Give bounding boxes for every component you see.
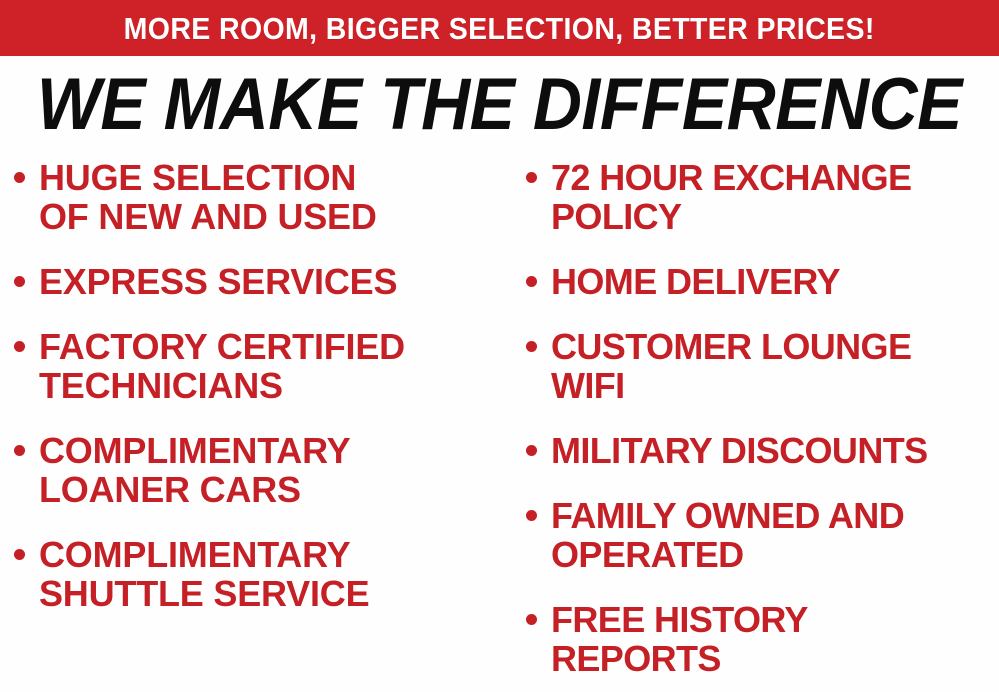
bullet-dot-icon	[14, 341, 25, 352]
list-item-label: COMPLIMENTARY LOANER CARS	[39, 431, 350, 509]
bullet-dot-icon	[526, 172, 537, 183]
promo-strip: MORE ROOM, BIGGER SELECTION, BETTER PRIC…	[0, 0, 999, 56]
headline-container: WE MAKE THE DIFFERENCE	[0, 62, 999, 146]
dealership-promo-banner: MORE ROOM, BIGGER SELECTION, BETTER PRIC…	[0, 0, 999, 692]
list-item: 72 HOUR EXCHANGE POLICY	[526, 158, 997, 236]
bullet-dot-icon	[526, 510, 537, 521]
page-title: WE MAKE THE DIFFERENCE	[37, 68, 962, 141]
list-item: FAMILY OWNED AND OPERATED	[526, 496, 997, 574]
list-item: EXPRESS SERVICES	[14, 262, 502, 301]
list-item-label: HOME DELIVERY	[551, 262, 840, 301]
list-item: COMPLIMENTARY LOANER CARS	[14, 431, 502, 509]
list-item-label: CUSTOMER LOUNGE WIFI	[551, 327, 911, 405]
bullet-dot-icon	[14, 172, 25, 183]
features-columns: HUGE SELECTION OF NEW AND USED EXPRESS S…	[0, 158, 999, 692]
list-item: HOME DELIVERY	[526, 262, 997, 301]
list-item: MILITARY DISCOUNTS	[526, 431, 997, 470]
list-item: HUGE SELECTION OF NEW AND USED	[14, 158, 502, 236]
bullet-dot-icon	[526, 445, 537, 456]
promo-strip-text: MORE ROOM, BIGGER SELECTION, BETTER PRIC…	[124, 13, 875, 44]
bullet-dot-icon	[526, 341, 537, 352]
list-item: CUSTOMER LOUNGE WIFI	[526, 327, 997, 405]
list-item-label: MILITARY DISCOUNTS	[551, 431, 928, 470]
list-item-label: HUGE SELECTION OF NEW AND USED	[39, 158, 377, 236]
list-item-label: FAMILY OWNED AND OPERATED	[551, 496, 904, 574]
list-item-label: 72 HOUR EXCHANGE POLICY	[551, 158, 911, 236]
bullet-dot-icon	[14, 549, 25, 560]
bullet-dot-icon	[14, 276, 25, 287]
bullet-dot-icon	[526, 276, 537, 287]
list-item-label: FACTORY CERTIFIED TECHNICIANS	[39, 327, 405, 405]
list-item: FREE HISTORY REPORTS	[526, 600, 997, 678]
bullet-dot-icon	[526, 614, 537, 625]
list-item: FACTORY CERTIFIED TECHNICIANS	[14, 327, 502, 405]
list-item: COMPLIMENTARY SHUTTLE SERVICE	[14, 535, 502, 613]
list-item-label: COMPLIMENTARY SHUTTLE SERVICE	[39, 535, 369, 613]
features-column-left: HUGE SELECTION OF NEW AND USED EXPRESS S…	[0, 158, 508, 639]
list-item-label: FREE HISTORY REPORTS	[551, 600, 808, 678]
features-column-right: 72 HOUR EXCHANGE POLICY HOME DELIVERY CU…	[508, 158, 999, 692]
bullet-dot-icon	[14, 445, 25, 456]
list-item-label: EXPRESS SERVICES	[39, 262, 397, 301]
